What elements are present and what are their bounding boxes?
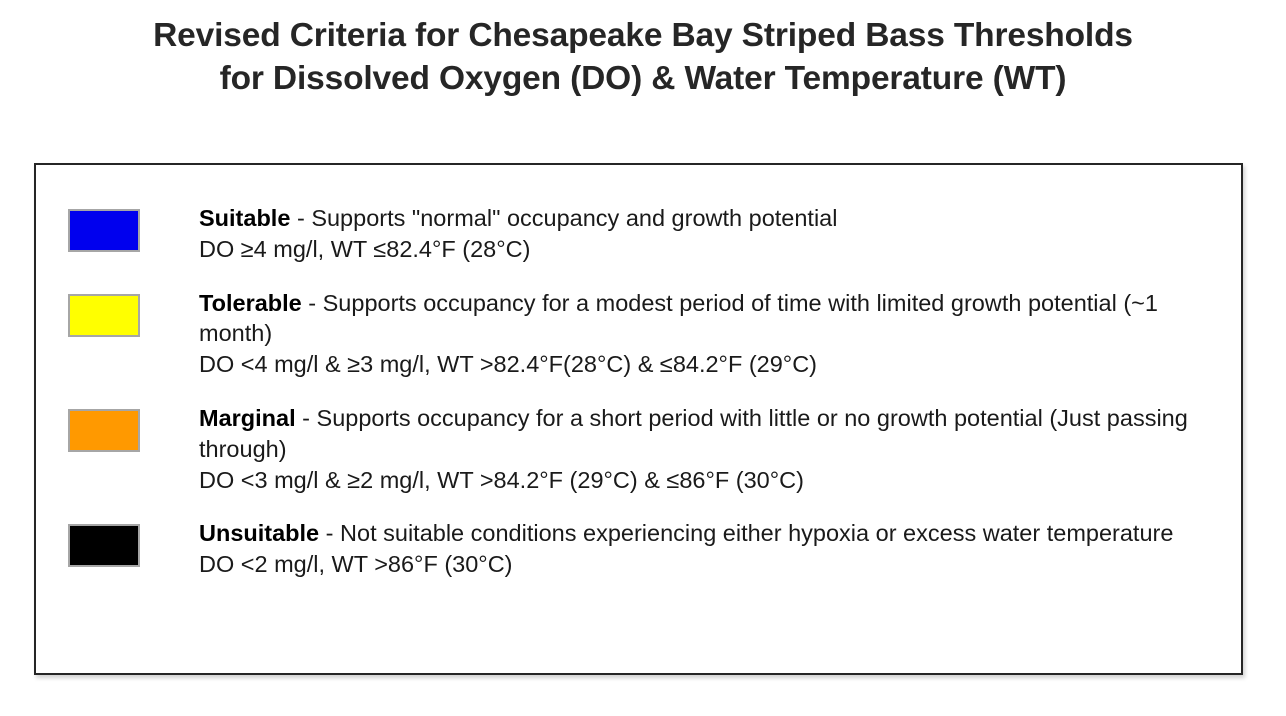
legend-criteria: DO <2 mg/l, WT >86°F (30°C) bbox=[199, 549, 1211, 580]
legend-separator: - bbox=[319, 520, 340, 546]
legend-term: Suitable bbox=[199, 205, 290, 231]
legend-entry-text: Tolerable - Supports occupancy for a mod… bbox=[199, 288, 1211, 380]
legend-entry-suitable: Suitable - Supports "normal" occupancy a… bbox=[66, 203, 1211, 265]
legend-separator: - bbox=[302, 290, 323, 316]
legend-entry-text: Marginal - Supports occupancy for a shor… bbox=[199, 403, 1211, 495]
legend-description: Supports occupancy for a modest period o… bbox=[199, 290, 1158, 347]
legend-description: Not suitable conditions experiencing eit… bbox=[340, 520, 1173, 546]
legend-description: Supports "normal" occupancy and growth p… bbox=[311, 205, 837, 231]
suitable-color-swatch bbox=[68, 209, 140, 252]
legend-criteria: DO <4 mg/l & ≥3 mg/l, WT >82.4°F(28°C) &… bbox=[199, 349, 1211, 380]
legend-criteria: DO ≥4 mg/l, WT ≤82.4°F (28°C) bbox=[199, 234, 1211, 265]
marginal-color-swatch bbox=[68, 409, 140, 452]
legend-entry-unsuitable: Unsuitable - Not suitable conditions exp… bbox=[66, 518, 1211, 580]
legend-separator: - bbox=[296, 405, 317, 431]
page-title-line-1: Revised Criteria for Chesapeake Bay Stri… bbox=[0, 14, 1286, 57]
legend-term: Marginal bbox=[199, 405, 296, 431]
legend-description: Supports occupancy for a short period wi… bbox=[199, 405, 1188, 462]
legend-entry-list: Suitable - Supports "normal" occupancy a… bbox=[66, 203, 1211, 580]
page-title: Revised Criteria for Chesapeake Bay Stri… bbox=[0, 14, 1286, 100]
page-title-line-2: for Dissolved Oxygen (DO) & Water Temper… bbox=[0, 57, 1286, 100]
legend-term: Tolerable bbox=[199, 290, 302, 316]
tolerable-color-swatch bbox=[68, 294, 140, 337]
legend-entry-text: Unsuitable - Not suitable conditions exp… bbox=[199, 518, 1211, 580]
legend-term: Unsuitable bbox=[199, 520, 319, 546]
legend-panel: Suitable - Supports "normal" occupancy a… bbox=[34, 163, 1243, 675]
legend-separator: - bbox=[290, 205, 311, 231]
unsuitable-color-swatch bbox=[68, 524, 140, 567]
legend-entry-marginal: Marginal - Supports occupancy for a shor… bbox=[66, 403, 1211, 495]
legend-entry-text: Suitable - Supports "normal" occupancy a… bbox=[199, 203, 1211, 265]
legend-criteria: DO <3 mg/l & ≥2 mg/l, WT >84.2°F (29°C) … bbox=[199, 465, 1211, 496]
legend-entry-tolerable: Tolerable - Supports occupancy for a mod… bbox=[66, 288, 1211, 380]
